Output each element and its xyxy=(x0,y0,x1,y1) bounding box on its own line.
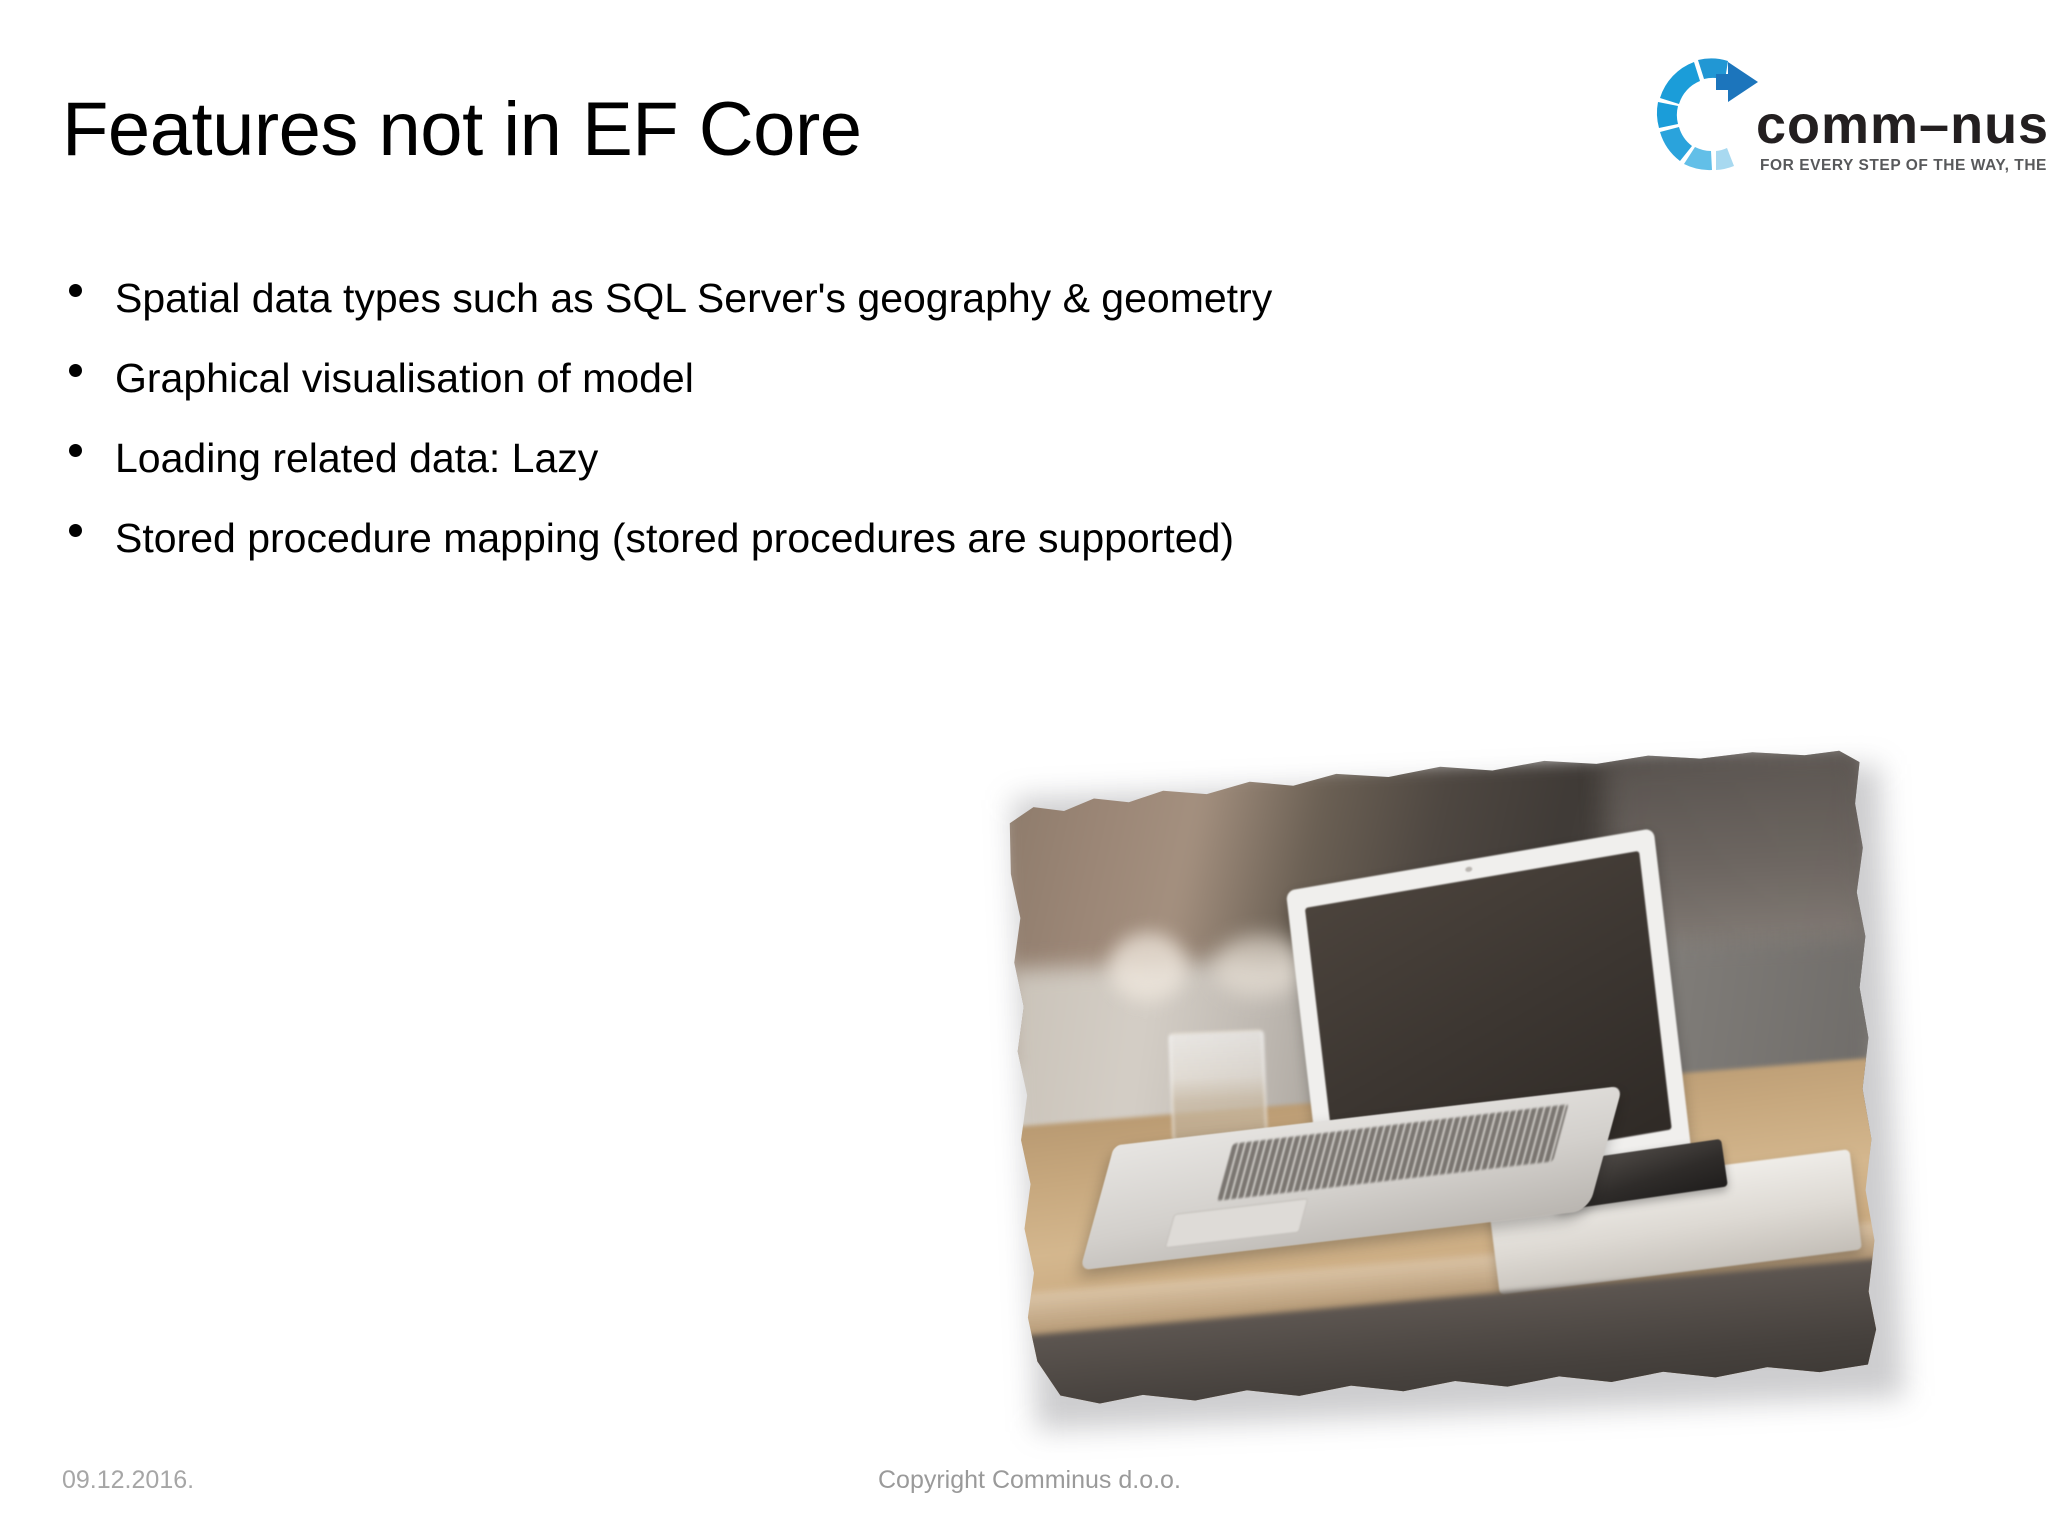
photo-frame xyxy=(998,746,1890,1413)
list-item-label: Spatial data types such as SQL Server's … xyxy=(115,275,1272,321)
page-title: Features not in EF Core xyxy=(62,92,1562,168)
list-item: Graphical visualisation of model xyxy=(62,338,1622,418)
bullet-dot-icon xyxy=(69,444,82,457)
laptop-desk-photo xyxy=(998,745,1913,1439)
list-item-label: Stored procedure mapping (stored procedu… xyxy=(115,515,1234,561)
list-item: Spatial data types such as SQL Server's … xyxy=(62,258,1622,338)
list-item: Loading related data: Lazy xyxy=(62,418,1622,498)
list-item-label: Loading related data: Lazy xyxy=(115,435,598,481)
photo-scene xyxy=(998,746,1890,1413)
content-bullet-list: Spatial data types such as SQL Server's … xyxy=(62,258,1622,578)
list-item: Stored procedure mapping (stored procedu… xyxy=(62,498,1622,578)
logo-wordmark: comm–nus xyxy=(1756,98,2048,152)
footer-date: 09.12.2016. xyxy=(62,1466,194,1495)
bullet-dot-icon xyxy=(69,364,82,377)
company-logo: comm–nus FOR EVERY STEP OF THE WAY, THER… xyxy=(1648,40,2040,180)
slide-canvas: Features not in EF Core comm–nus xyxy=(0,0,2048,1536)
bullet-dot-icon xyxy=(69,284,82,297)
bullet-dot-icon xyxy=(69,524,82,537)
footer-copyright: Copyright Comminus d.o.o. xyxy=(878,1466,1181,1495)
photo-laptop-webcam xyxy=(1465,867,1472,873)
logo-tagline: FOR EVERY STEP OF THE WAY, THERE'S DATA xyxy=(1760,158,2048,174)
photo-drinking-glass xyxy=(1168,1029,1267,1144)
list-item-label: Graphical visualisation of model xyxy=(115,355,694,401)
photo-laptop-trackpad xyxy=(1165,1198,1309,1248)
